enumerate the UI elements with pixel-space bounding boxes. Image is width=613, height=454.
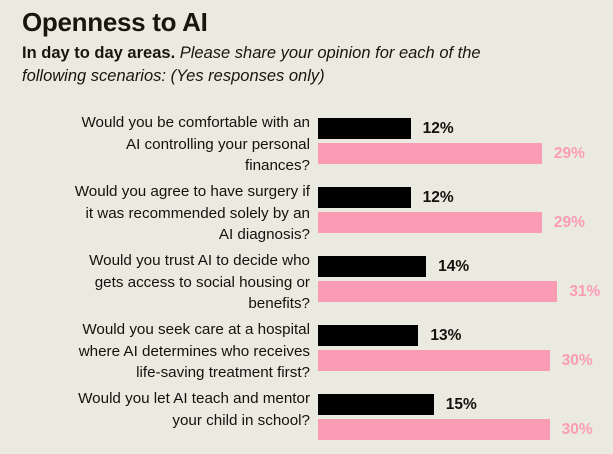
- category-label: Would you agree to have surgery if it wa…: [20, 181, 310, 246]
- chart-title: Openness to AI: [22, 6, 603, 38]
- bar-row: 12%: [318, 187, 613, 208]
- chart-subtitle-lead: In day to day areas.: [22, 44, 175, 62]
- category-label: Would you let AI teach and mentor your c…: [20, 388, 310, 431]
- bar-pink: [318, 143, 542, 164]
- chart-header: Openness to AI In day to day areas. Plea…: [22, 6, 603, 87]
- bar-row: 30%: [318, 350, 613, 371]
- chart-subtitle: In day to day areas. Please share your o…: [22, 42, 522, 87]
- bar-black: [318, 325, 418, 346]
- bar-value-label: 15%: [446, 394, 477, 415]
- bar-value-label: 29%: [554, 212, 585, 233]
- bar-pair: 12%29%: [318, 187, 613, 233]
- category-label: Would you trust AI to decide who gets ac…: [20, 250, 310, 315]
- bar-value-label: 30%: [562, 419, 593, 440]
- bar-row: 29%: [318, 143, 613, 164]
- bar-value-label: 30%: [562, 350, 593, 371]
- bar-row: 14%: [318, 256, 613, 277]
- bar-row: 29%: [318, 212, 613, 233]
- bar-black: [318, 187, 411, 208]
- bar-group: Would you seek care at a hospital where …: [0, 319, 613, 388]
- bar-pair: 15%30%: [318, 394, 613, 440]
- bar-row: 12%: [318, 118, 613, 139]
- bar-pair: 12%29%: [318, 118, 613, 164]
- bar-value-label: 12%: [423, 187, 454, 208]
- bar-row: 15%: [318, 394, 613, 415]
- bar-black: [318, 394, 434, 415]
- bar-group: Would you agree to have surgery if it wa…: [0, 181, 613, 250]
- bar-group: Would you trust AI to decide who gets ac…: [0, 250, 613, 319]
- bar-pair: 13%30%: [318, 325, 613, 371]
- bar-value-label: 13%: [430, 325, 461, 346]
- bar-pink: [318, 212, 542, 233]
- bar-group: Would you let AI teach and mentor your c…: [0, 388, 613, 454]
- bar-black: [318, 118, 411, 139]
- chart-container: Openness to AI In day to day areas. Plea…: [0, 0, 613, 454]
- bar-group: Would you be comfortable with an AI cont…: [0, 112, 613, 181]
- category-label: Would you seek care at a hospital where …: [20, 319, 310, 384]
- bar-pink: [318, 350, 550, 371]
- category-label: Would you be comfortable with an AI cont…: [20, 112, 310, 177]
- bar-pink: [318, 419, 550, 440]
- bar-row: 31%: [318, 281, 613, 302]
- bar-row: 30%: [318, 419, 613, 440]
- bar-row: 13%: [318, 325, 613, 346]
- bar-pink: [318, 281, 557, 302]
- bar-value-label: 12%: [423, 118, 454, 139]
- bar-value-label: 31%: [569, 281, 600, 302]
- bar-black: [318, 256, 426, 277]
- bar-value-label: 14%: [438, 256, 469, 277]
- bar-value-label: 29%: [554, 143, 585, 164]
- bar-chart-plot-area: Would you be comfortable with an AI cont…: [0, 112, 613, 454]
- bar-pair: 14%31%: [318, 256, 613, 302]
